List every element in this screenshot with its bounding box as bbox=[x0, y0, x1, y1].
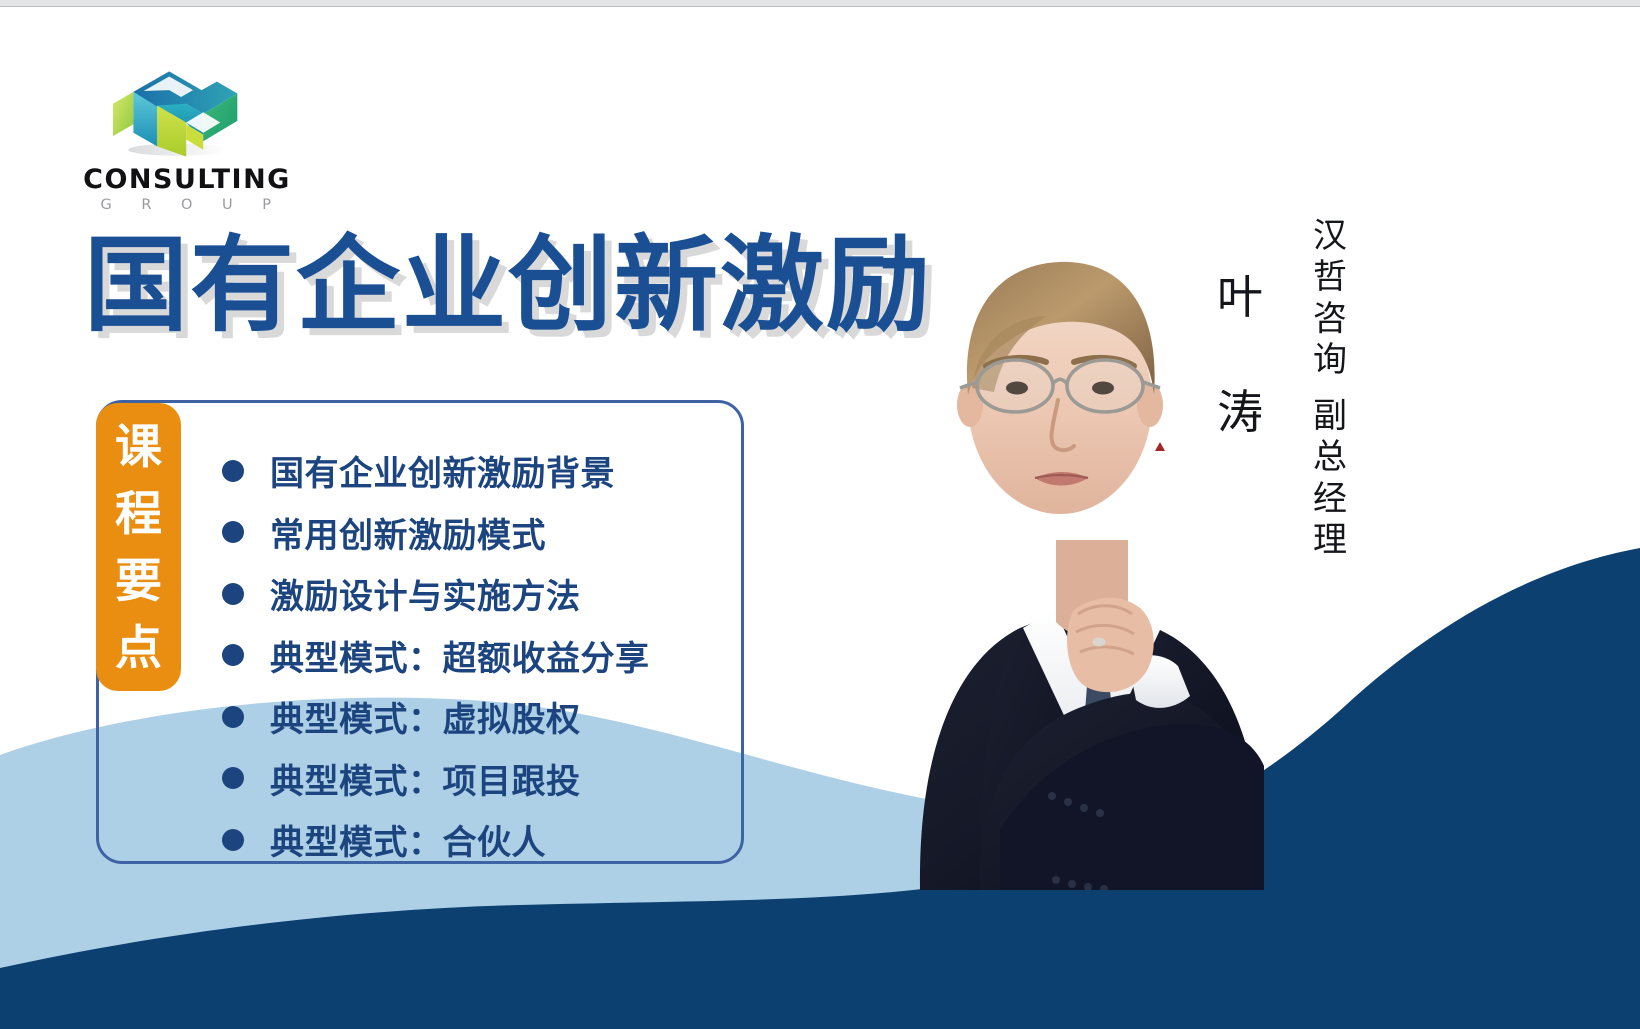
bullet-dot-icon bbox=[222, 767, 244, 789]
slide-canvas: CONSULTING G R O U P 国有企业创新激励 课 程 要 点 国有… bbox=[0, 0, 1640, 1029]
badge-char-3: 要 bbox=[115, 549, 162, 616]
bullet-dot-icon bbox=[222, 521, 244, 543]
speaker-company-char-4: 询 bbox=[1299, 340, 1361, 381]
bullet-dot-icon bbox=[222, 644, 244, 666]
list-item: 典型模式：项目跟投 bbox=[222, 748, 742, 810]
speaker-position-char-2: 总 bbox=[1299, 437, 1361, 478]
list-item: 国有企业创新激励背景 bbox=[222, 440, 742, 502]
list-item-label: 典型模式：超额收益分享 bbox=[270, 631, 650, 680]
bullet-dot-icon bbox=[222, 706, 244, 728]
logo-secondary-text: G R O U P bbox=[72, 198, 302, 213]
list-item-label: 典型模式：项目跟投 bbox=[270, 754, 581, 803]
speaker-name-char-2: 涛 bbox=[1205, 355, 1275, 470]
speaker-company-char-1: 汉 bbox=[1299, 216, 1361, 257]
course-outline-list: 国有企业创新激励背景 常用创新激励模式 激励设计与实施方法 典型模式：超额收益分… bbox=[222, 440, 742, 871]
speaker-position-char-1: 副 bbox=[1299, 396, 1361, 437]
badge-char-1: 课 bbox=[115, 415, 162, 482]
list-item-label: 激励设计与实施方法 bbox=[270, 569, 581, 618]
speaker-company-char-3: 咨 bbox=[1299, 299, 1361, 340]
brand-logo: CONSULTING G R O U P bbox=[72, 68, 332, 213]
list-item-label: 典型模式：虚拟股权 bbox=[270, 692, 581, 741]
bullet-dot-icon bbox=[222, 829, 244, 851]
list-item: 典型模式：超额收益分享 bbox=[222, 625, 742, 687]
list-item: 常用创新激励模式 bbox=[222, 502, 742, 564]
logo-primary-text: CONSULTING bbox=[72, 166, 302, 193]
speaker-position-char-4: 理 bbox=[1299, 520, 1361, 561]
role-spacer bbox=[1299, 382, 1361, 396]
list-item-label: 典型模式：合伙人 bbox=[270, 815, 546, 864]
bullet-dot-icon bbox=[222, 583, 244, 605]
speaker-name-char-1: 叶 bbox=[1205, 240, 1275, 355]
window-chrome-strip bbox=[0, 0, 1640, 7]
list-item: 激励设计与实施方法 bbox=[222, 563, 742, 625]
badge-char-2: 程 bbox=[115, 482, 162, 549]
consulting-group-cube-logo bbox=[106, 68, 246, 160]
list-item: 典型模式：合伙人 bbox=[222, 809, 742, 871]
speaker-company-char-2: 哲 bbox=[1299, 257, 1361, 298]
speaker-role: 汉 哲 咨 询 副 总 经 理 bbox=[1299, 216, 1361, 562]
list-item-label: 国有企业创新激励背景 bbox=[270, 446, 615, 495]
badge-char-4: 点 bbox=[115, 616, 162, 683]
course-outline-badge: 课 程 要 点 bbox=[96, 403, 181, 691]
bullet-dot-icon bbox=[222, 460, 244, 482]
page-title: 国有企业创新激励 bbox=[84, 232, 932, 342]
list-item-label: 常用创新激励模式 bbox=[270, 508, 546, 557]
list-item: 典型模式：虚拟股权 bbox=[222, 686, 742, 748]
speaker-position-char-3: 经 bbox=[1299, 479, 1361, 520]
speaker-name: 叶 涛 bbox=[1205, 240, 1275, 470]
logo-wordmark: CONSULTING G R O U P bbox=[72, 166, 302, 213]
